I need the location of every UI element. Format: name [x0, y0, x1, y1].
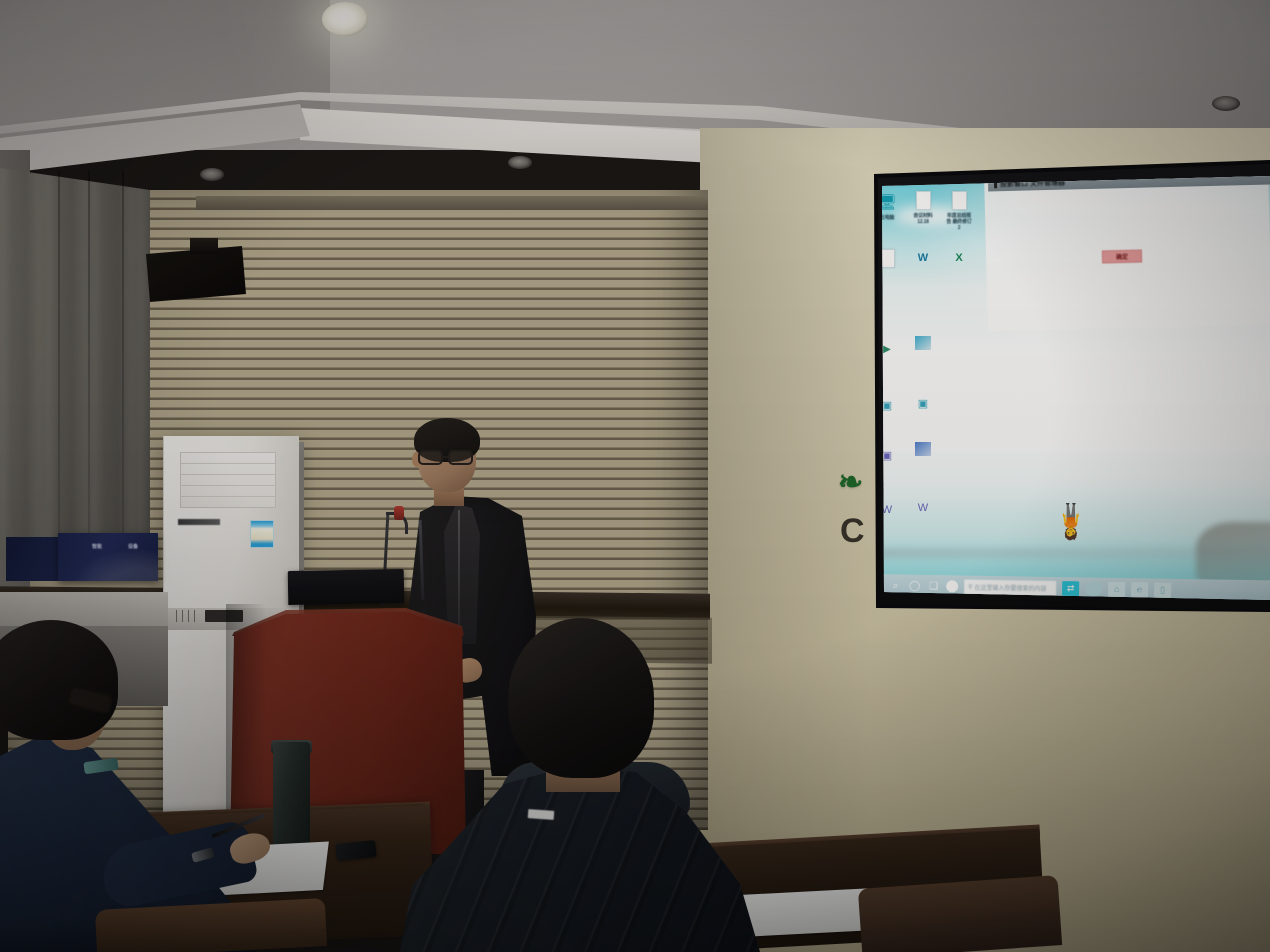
air-conditioner-energy-label	[250, 520, 274, 548]
microphone-head-icon	[394, 506, 404, 520]
doc-glyph: X	[949, 246, 969, 270]
folder-glyph	[913, 188, 933, 212]
curtain-fold	[58, 170, 60, 562]
air-conditioner-grille	[180, 452, 276, 508]
search-placeholder-text: 在这里输入你要搜索的内容	[974, 582, 1046, 592]
package-swoosh-graphic	[58, 541, 158, 581]
taskbar-app-edge[interactable]: ℮	[1131, 582, 1148, 597]
folder-icon-1[interactable]: 会议材料 12.18	[910, 188, 936, 225]
package-label-2: 设备	[128, 543, 138, 550]
taskbar-app-store[interactable]: ⌂	[1108, 581, 1125, 596]
ceiling-downlight-4	[1212, 96, 1240, 111]
folder-icon-2[interactable]: 年度总结报告 最终修订2	[946, 188, 972, 231]
jacket-logo	[528, 809, 555, 820]
taskbar-app-explorer[interactable]: ▯	[1154, 582, 1171, 597]
ceiling-downlight-2	[508, 156, 532, 169]
projection-screen-surface[interactable]: 🧍 投影窗口 文件管理器 确定 🖥 此电脑 会议材料 12.18 年度总结报告 …	[866, 176, 1270, 604]
image-glyph	[915, 336, 931, 350]
audience-center-hair	[508, 618, 654, 778]
wallpaper-figure-icon: 🧍	[1074, 496, 1092, 538]
air-conditioner-brand-mark	[178, 519, 220, 525]
ceiling-downlight-lit	[322, 2, 368, 36]
audience-member-center	[400, 618, 760, 952]
taskbar-search-input[interactable]: ⚲ 在这里输入你要搜索的内容	[964, 579, 1056, 595]
speaker-bracket	[190, 238, 218, 254]
doc-icon-8[interactable]: W	[910, 496, 936, 520]
doc-glyph: ▣	[913, 392, 933, 416]
curtain-fold	[88, 170, 90, 562]
wood-wall-header-trim	[196, 196, 708, 210]
folder-label-2: 年度总结报告 最终修订2	[946, 213, 972, 231]
audience-left-hair	[0, 620, 118, 740]
audience-center-quilting	[400, 766, 760, 952]
leaf-graphic-icon: ❧	[838, 468, 868, 502]
doc-glyph: W	[913, 496, 933, 520]
wall-letter-graphic: C	[840, 512, 865, 551]
doc-glyph	[915, 442, 931, 456]
taskbar-app-circle[interactable]	[1085, 581, 1102, 596]
folder-glyph	[949, 188, 969, 212]
blue-package-secondary	[6, 537, 60, 581]
glasses-bridge	[443, 456, 450, 458]
search-field-icon: ⚲	[968, 583, 973, 590]
podium-monitor	[288, 569, 405, 605]
wallpaper-shore	[1196, 522, 1270, 588]
taskbar-app-active[interactable]: ⇄	[1062, 581, 1079, 596]
doc-glyph: W	[913, 246, 933, 270]
right-chair-back	[858, 875, 1062, 952]
package-label-1: 智能	[92, 543, 102, 550]
taskbar-app-chrome[interactable]	[946, 580, 958, 592]
doc-icon-6[interactable]	[910, 442, 936, 456]
projected-window-confirm-button[interactable]: 确定	[1102, 250, 1142, 264]
taskbar-cortana-icon[interactable]: ◯	[908, 579, 921, 592]
folder-label-1: 会议材料 12.18	[910, 213, 936, 225]
presenter-glasses-icon	[416, 450, 478, 466]
doc-icon-2[interactable]: W	[910, 246, 936, 270]
glasses-lens-right	[448, 450, 473, 465]
image-icon-1[interactable]	[910, 336, 936, 350]
conference-room-photo: ❧ C 🧍 投影窗口 文件管理器 确定 🖥 此电脑 会议材料 12.18	[0, 0, 1270, 952]
wall-mounted-speaker	[146, 246, 246, 302]
ceiling-downlight-1	[200, 168, 224, 181]
window-curtain	[0, 168, 150, 568]
glasses-lens-left	[418, 450, 443, 465]
curtain-fold	[122, 170, 124, 562]
taskbar-search-icon[interactable]: ⌕	[889, 579, 902, 592]
doc-icon-3[interactable]: X	[946, 246, 972, 270]
blue-package-box: 智能 设备	[58, 533, 158, 581]
taskbar-task-view-icon[interactable]: ❏	[927, 579, 940, 592]
doc-icon-5[interactable]: ▣	[910, 392, 936, 416]
